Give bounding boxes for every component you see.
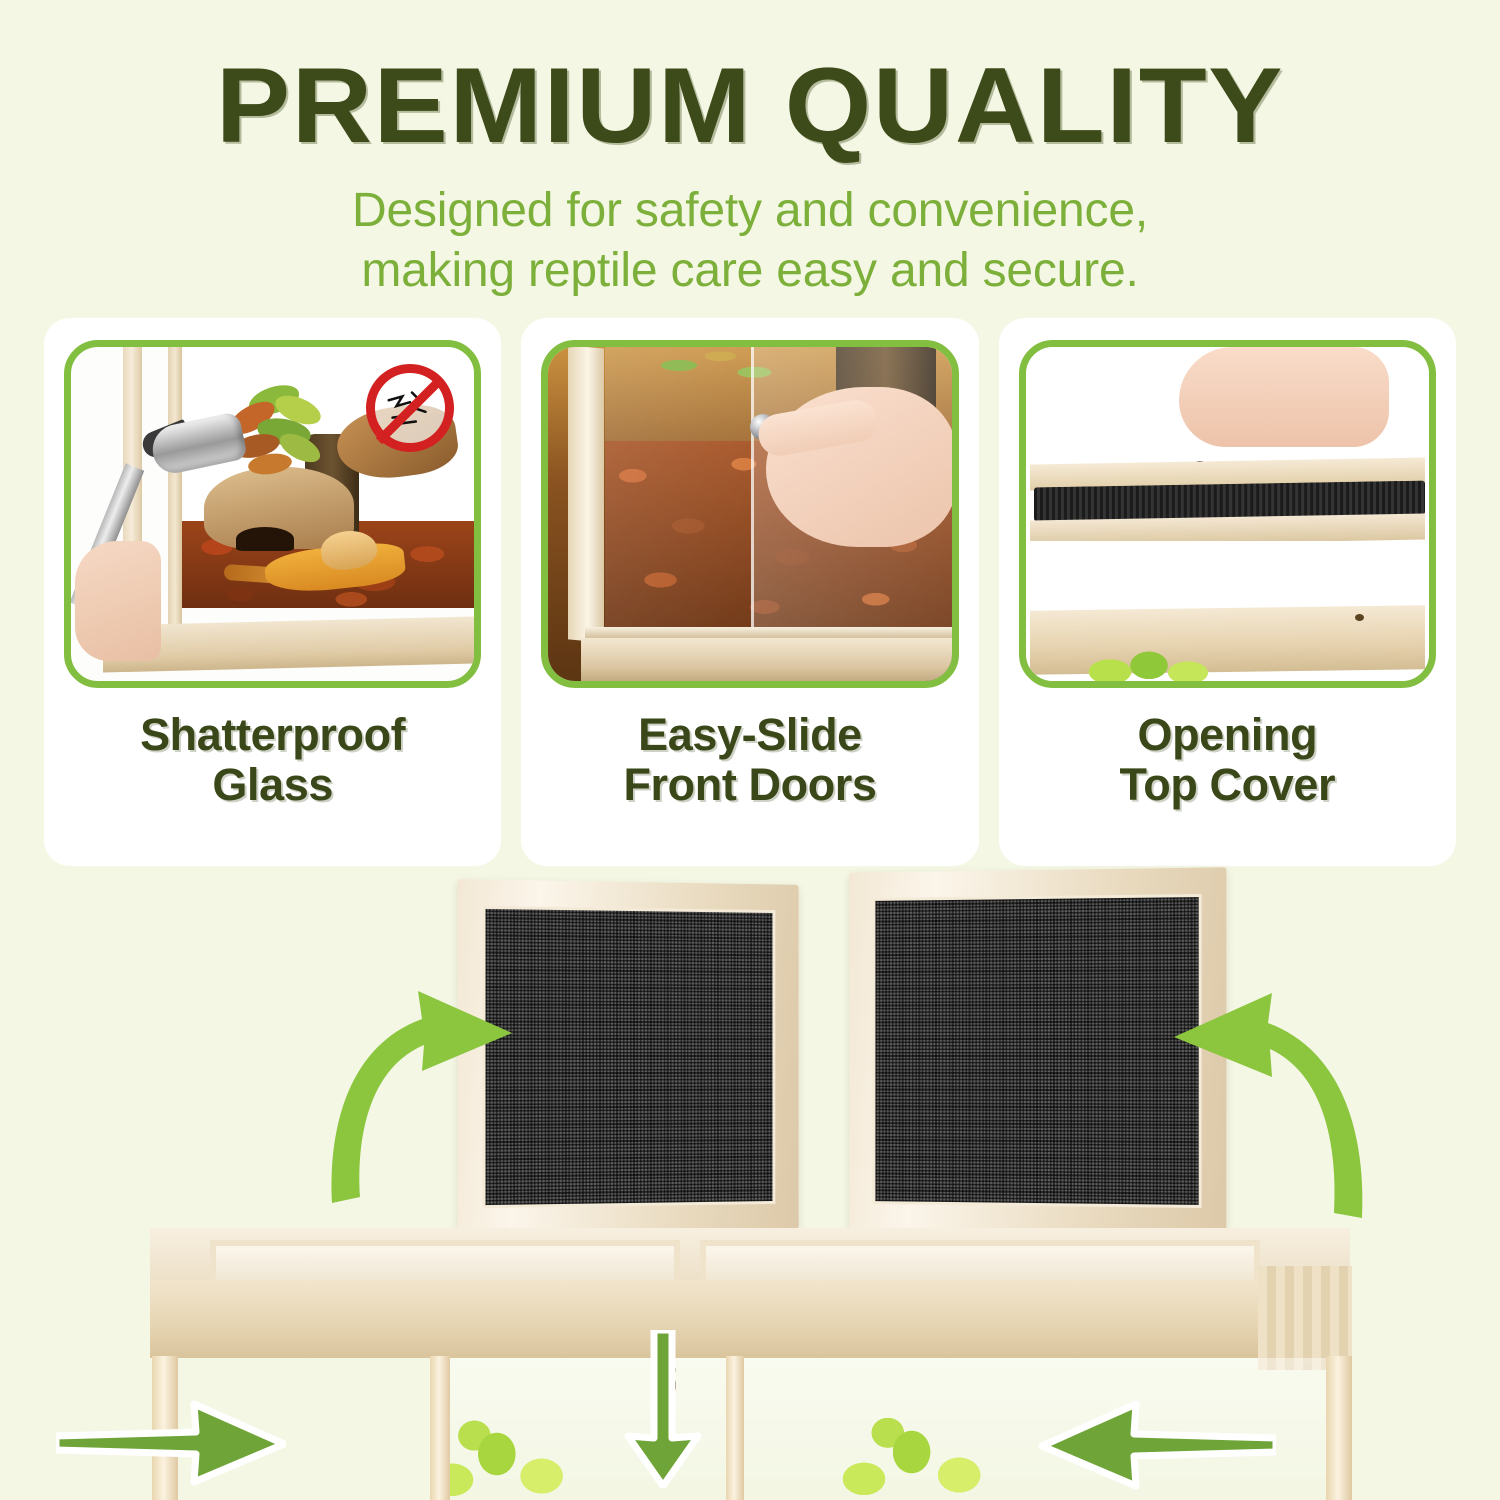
- mesh-screen: [872, 894, 1201, 1208]
- feature-title-line-2: Front Doors: [623, 760, 876, 810]
- cabinet-leg-rear-right: [726, 1356, 744, 1500]
- hand-holding-hammer: [75, 541, 161, 661]
- cave-opening: [236, 527, 294, 551]
- feature-title-line-1: Opening: [1120, 710, 1336, 760]
- feature-title-shatterproof-glass: Shatterproof Glass: [140, 710, 405, 809]
- feature-title-line-2: Glass: [140, 760, 405, 810]
- feature-card-opening-top-cover[interactable]: Opening Top Cover: [999, 318, 1456, 866]
- sliding-door-illustration: [548, 347, 951, 681]
- page-title: PREMIUM QUALITY: [0, 52, 1500, 159]
- feature-photo-easy-slide-front-doors: [541, 340, 958, 688]
- header: PREMIUM QUALITY Designed for safety and …: [0, 0, 1500, 300]
- top-cover-illustration: [1026, 347, 1429, 681]
- glass-gap: [1026, 541, 1429, 608]
- arrow-right-side-icon: [1036, 1400, 1276, 1490]
- subtitle-line-2: making reptile care easy and secure.: [0, 241, 1500, 301]
- cabinet-leg-front-right: [1326, 1356, 1352, 1500]
- crack-lines-icon: [381, 379, 439, 437]
- feature-card-list: Shatterproof Glass Easy-Slide: [44, 318, 1456, 866]
- feature-card-shatterproof-glass[interactable]: Shatterproof Glass: [44, 318, 501, 866]
- mesh-screen: [482, 906, 775, 1208]
- feature-title-line-1: Easy-Slide: [623, 710, 876, 760]
- wood-frame-post-inner: [168, 347, 182, 634]
- hand-lifting-cover: [1179, 347, 1389, 447]
- arrow-open-right-lid-icon: [1168, 975, 1368, 1220]
- terrarium-hammer-illustration: [71, 347, 474, 681]
- wood-base-rail: [581, 638, 952, 681]
- no-crack-icon: [366, 364, 454, 452]
- cabinet-leg-rear-left: [430, 1356, 450, 1500]
- feature-title-line-2: Top Cover: [1120, 760, 1336, 810]
- cabinet-right-side-panel: [1258, 1266, 1352, 1370]
- arrow-open-left-lid-icon: [326, 975, 516, 1205]
- feature-title-line-1: Shatterproof: [140, 710, 405, 760]
- artificial-plant-right: [830, 1404, 1000, 1500]
- feature-title-easy-slide-front-doors: Easy-Slide Front Doors: [623, 710, 876, 809]
- wood-door-frame: [568, 345, 604, 642]
- cabinet-front-band: [150, 1280, 1350, 1358]
- subtitle-line-1: Designed for safety and convenience,: [0, 181, 1500, 241]
- artificial-plant-decor: [1074, 635, 1224, 681]
- sliding-glass-door-left[interactable]: [605, 347, 754, 628]
- feature-photo-shatterproof-glass: [64, 340, 481, 688]
- arrow-down-middle-icon: [620, 1330, 706, 1488]
- feature-title-opening-top-cover: Opening Top Cover: [1120, 710, 1336, 809]
- page-subtitle: Designed for safety and convenience, mak…: [0, 181, 1500, 300]
- feature-card-easy-slide-front-doors[interactable]: Easy-Slide Front Doors: [521, 318, 978, 866]
- feature-photo-opening-top-cover: [1019, 340, 1436, 688]
- arrow-left-side-icon: [56, 1400, 286, 1486]
